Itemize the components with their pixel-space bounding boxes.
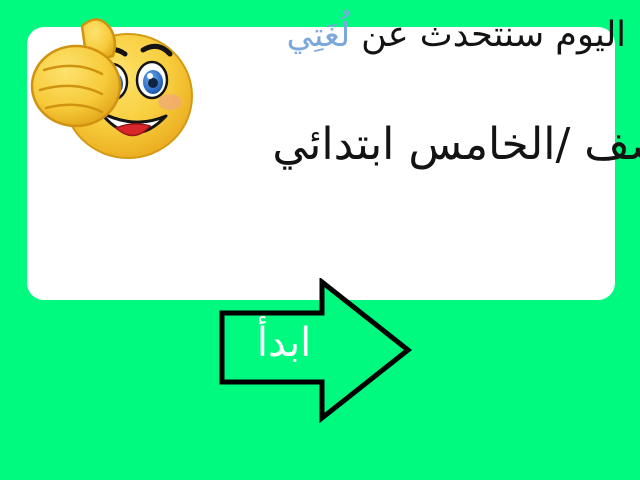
heading-highlight-word: لُغَتِي [287,15,350,54]
heading-block: اليوم سنتحدث عن لُغَتِي للصف /الخامس ابت… [150,8,626,176]
heading-line-2: للصف /الخامس ابتدائي [150,114,640,176]
slide-canvas: اليوم سنتحدث عن لُغَتِي للصف /الخامس ابت… [0,0,640,480]
start-button[interactable]: ابدأ [218,278,414,424]
heading-line-1-prefix: اليوم سنتحدث عن [350,15,626,55]
thumbs-up-smiley-icon [24,8,206,168]
heading-line-1: اليوم سنتحدث عن لُغَتِي [150,8,626,62]
